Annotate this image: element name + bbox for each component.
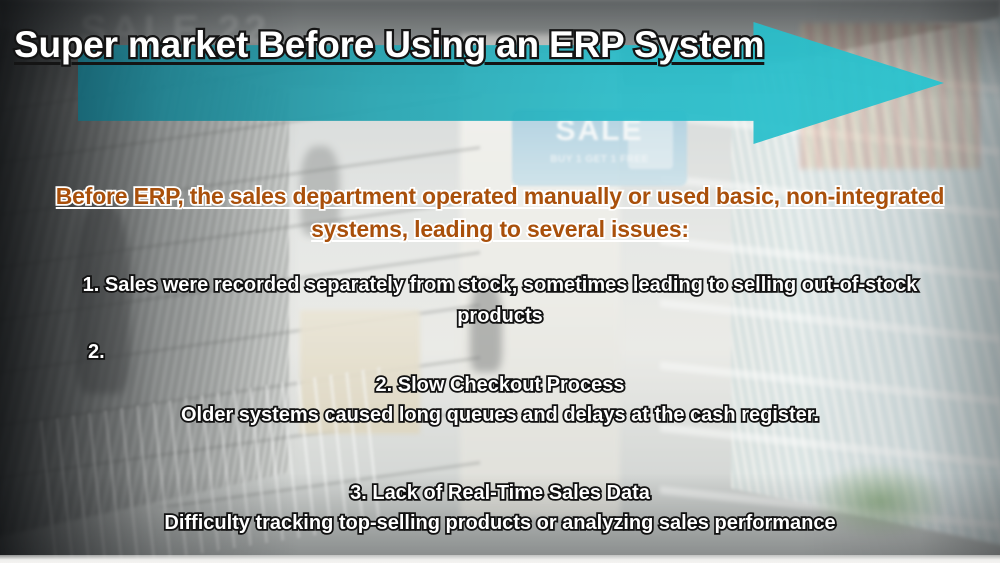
- point-2-heading: 2. Slow Checkout Process: [40, 373, 960, 397]
- point-3-text: Difficulty tracking top-selling products…: [20, 511, 980, 535]
- point-2-marker: 2.: [88, 340, 105, 364]
- subtitle-text: Before ERP, the sales department operate…: [20, 180, 980, 245]
- page-title: Super market Before Using an ERP System: [14, 24, 650, 65]
- slide-canvas: SALE 22 SALE BUY 1 GET 1 FREE Super mark…: [0, 0, 1000, 563]
- bottom-light-strip: [0, 555, 1000, 563]
- point-3-heading: 3. Lack of Real-Time Sales Data: [40, 481, 960, 505]
- point-2-text: Older systems caused long queues and del…: [40, 403, 960, 427]
- point-1-text: 1. Sales were recorded separately from s…: [40, 270, 960, 332]
